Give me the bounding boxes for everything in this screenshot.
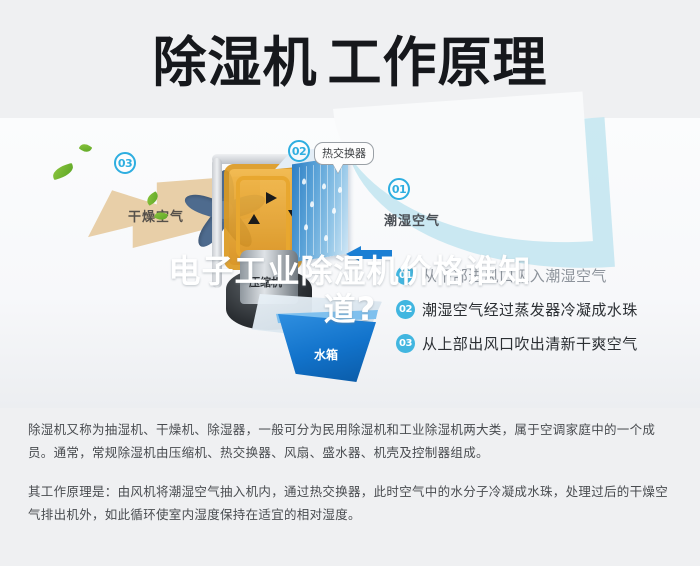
legend-text-03: 从上部出风口吹出清新干爽空气 [422, 333, 638, 354]
legend-badge-01: 01 [396, 266, 415, 285]
diagram-badge-03: 03 [114, 152, 136, 174]
legend-badge-03: 03 [396, 334, 415, 353]
description-paragraph-1: 除湿机又称为抽湿机、干燥机、除湿器，一般可分为民用除湿机和工业除湿机两大类，属于… [28, 418, 676, 464]
water-tank-label: 水箱 [314, 346, 338, 363]
page-title: 除湿机工作原理 [0, 32, 700, 94]
heat-exchanger-callout: 热交换器 [314, 142, 374, 165]
legend-text-01: 从下部进风口吸入潮湿空气 [422, 265, 607, 286]
legend-text-02: 潮湿空气经过蒸发器冷凝成水珠 [422, 299, 638, 320]
flow-arrow-right-icon [266, 192, 277, 204]
infographic-page: 除湿机工作原理 干燥空气 [0, 0, 700, 566]
condenser-coil-inner [236, 176, 290, 258]
legend-badge-02: 02 [396, 300, 415, 319]
leaf-icon [51, 163, 75, 180]
air-inlet-arrow-icon [346, 246, 392, 262]
page-title-primary: 除湿机 [153, 31, 318, 94]
legend-item-01: 01 从下部进风口吸入潮湿空气 [396, 258, 686, 292]
refrigerant-pipe-vertical [212, 158, 222, 288]
legend-item-02: 02 潮湿空气经过蒸发器冷凝成水珠 [396, 292, 686, 326]
page-title-secondary: 工作原理 [328, 31, 548, 94]
leaf-icon [79, 142, 93, 155]
process-legend: 01 从下部进风口吸入潮湿空气 02 潮湿空气经过蒸发器冷凝成水珠 03 从上部… [396, 258, 686, 360]
diagram-badge-02: 02 [288, 140, 310, 162]
description-paragraph-2: 其工作原理是：由风机将潮湿空气抽入机内，通过热交换器，此时空气中的水分子冷凝成水… [28, 480, 676, 526]
heat-exchanger-callout-label: 热交换器 [322, 147, 366, 160]
compressor-label: 压缩机 [249, 274, 282, 290]
description-block: 除湿机又称为抽湿机、干燥机、除湿器，一般可分为民用除湿机和工业除湿机两大类，属于… [28, 418, 676, 526]
diagram-badge-01: 01 [388, 178, 410, 200]
flow-arrow-up-icon [248, 214, 260, 224]
humid-air-label: 潮湿空气 [384, 210, 440, 229]
legend-item-03: 03 从上部出风口吹出清新干爽空气 [396, 326, 686, 360]
